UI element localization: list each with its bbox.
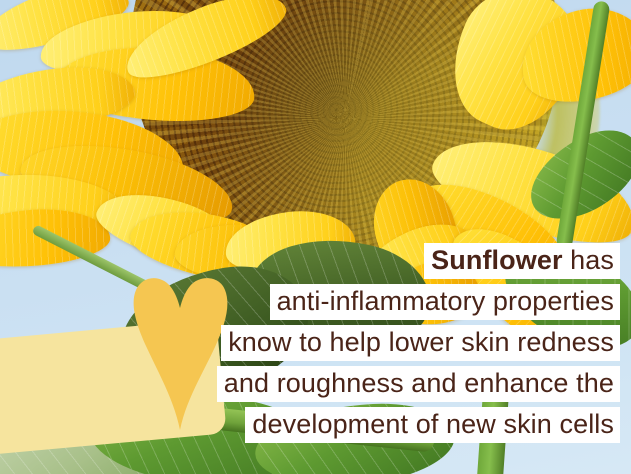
caption-line: know to help lower skin redness (0, 325, 620, 366)
caption-line: Sunflower has (0, 243, 620, 284)
caption-line: development of new skin cells (0, 407, 620, 448)
caption-line-text: development of new skin cells (252, 409, 614, 439)
caption-line-text: and roughness and enhance the (224, 368, 614, 398)
caption-block: Sunflower has anti-inflammatory properti… (0, 243, 631, 448)
caption-line-text: know to help lower skin redness (228, 327, 614, 357)
caption-line-text: anti-inflammatory properties (277, 286, 614, 316)
caption-line: anti-inflammatory properties (0, 284, 620, 325)
caption-line: and roughness and enhance the (0, 366, 620, 407)
sunflower-infographic: Sunflower has anti-inflammatory properti… (0, 0, 631, 474)
caption-line-text: has (563, 245, 614, 275)
caption-line-bold: Sunflower (431, 245, 562, 275)
